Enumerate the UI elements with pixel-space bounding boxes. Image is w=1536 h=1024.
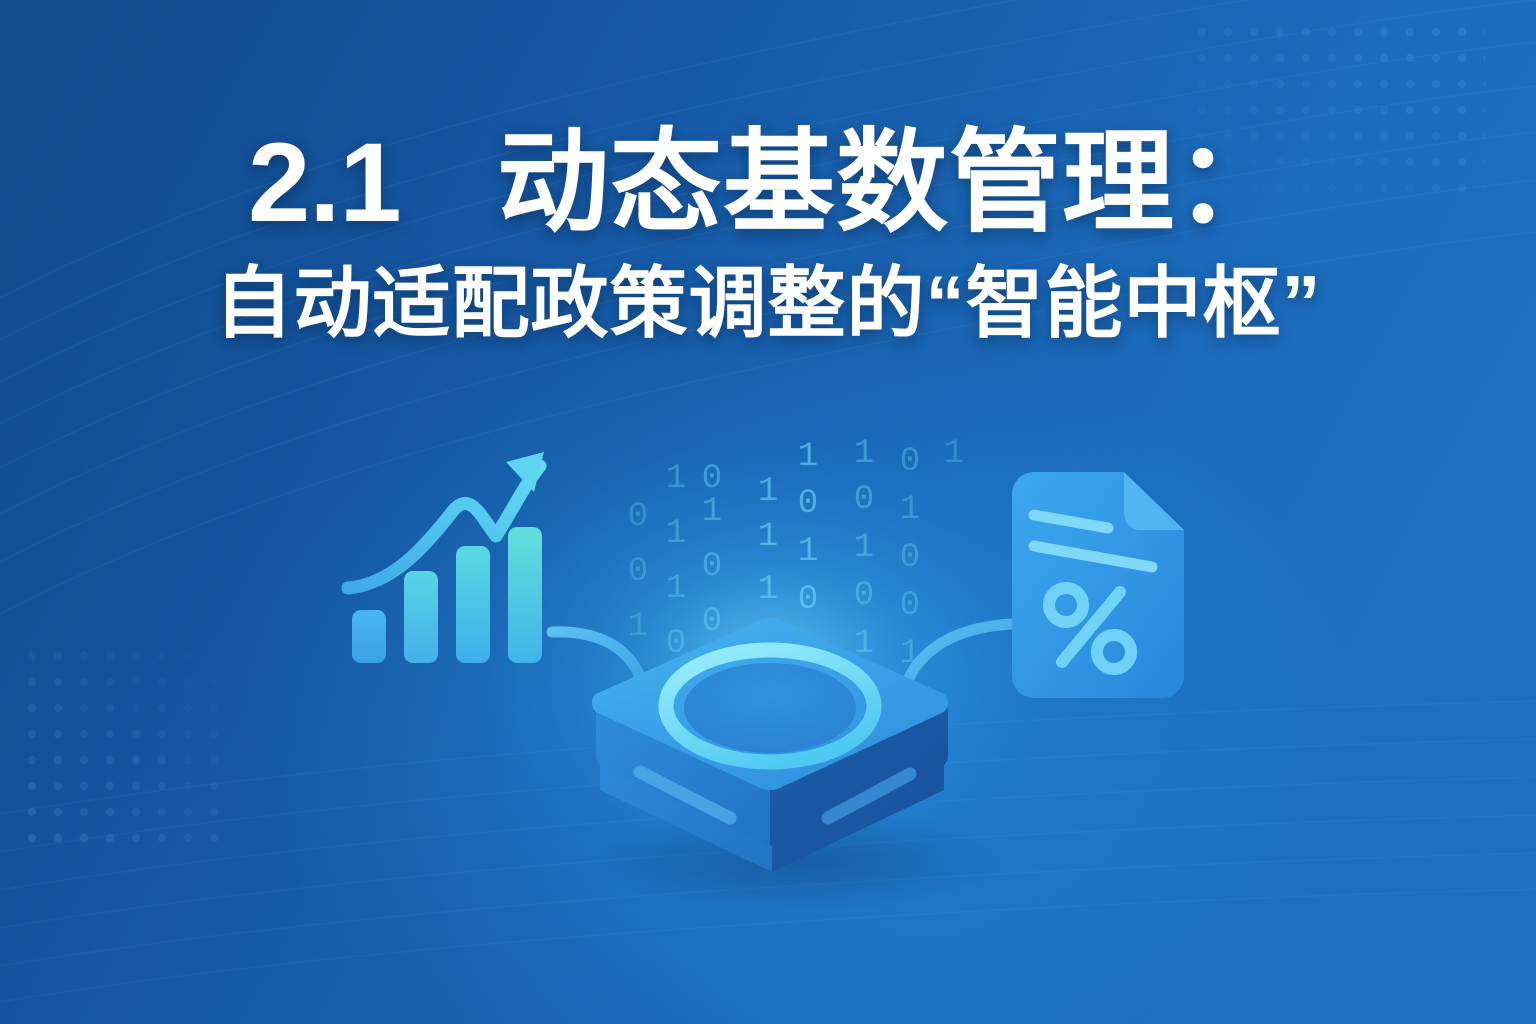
svg-text:0: 0: [628, 498, 648, 536]
chart-bar-2: [404, 571, 438, 663]
chart-bar-1: [352, 610, 386, 663]
svg-text:0: 0: [702, 603, 722, 641]
title-number: 2.1: [248, 120, 401, 245]
svg-text:1: 1: [798, 533, 818, 571]
svg-text:0: 0: [798, 485, 818, 523]
svg-text:1: 1: [666, 515, 686, 553]
svg-text:0: 0: [854, 577, 874, 615]
bar-chart-growth-icon: [348, 452, 544, 663]
svg-text:1: 1: [798, 438, 818, 476]
title-main-text: 动态基数管理：: [497, 120, 1288, 245]
svg-text:0: 0: [900, 539, 920, 577]
svg-text:0: 0: [798, 581, 818, 619]
svg-text:1: 1: [854, 529, 874, 567]
svg-text:0: 0: [854, 481, 874, 519]
svg-text:1: 1: [628, 608, 648, 646]
svg-text:0: 0: [900, 443, 920, 481]
chart-bar-4: [508, 527, 542, 663]
chart-bar-3: [456, 546, 490, 663]
document-fold-corner: [1124, 472, 1184, 530]
svg-text:1: 1: [854, 435, 874, 473]
svg-text:1: 1: [758, 473, 778, 511]
policy-percent-document: [1012, 472, 1184, 698]
title-block: 2.1 动态基数管理： 自动适配政策调整的“智能中枢”: [0, 118, 1536, 354]
svg-text:1: 1: [702, 493, 722, 531]
svg-text:1: 1: [758, 571, 778, 609]
page-title: 2.1 动态基数管理：: [0, 118, 1536, 248]
svg-text:1: 1: [666, 460, 686, 498]
title-gap: [401, 120, 497, 245]
svg-text:0: 0: [628, 553, 648, 591]
page-subtitle: 自动适配政策调整的“智能中枢”: [0, 254, 1536, 354]
svg-text:1: 1: [944, 435, 964, 473]
svg-text:0: 0: [702, 548, 722, 586]
hub-ring-inner: [684, 663, 856, 753]
svg-text:1: 1: [900, 491, 920, 529]
svg-text:1: 1: [666, 570, 686, 608]
slide-canvas: 2.1 动态基数管理： 自动适配政策调整的“智能中枢”: [0, 0, 1536, 1024]
svg-text:1: 1: [758, 518, 778, 556]
svg-text:0: 0: [900, 587, 920, 625]
